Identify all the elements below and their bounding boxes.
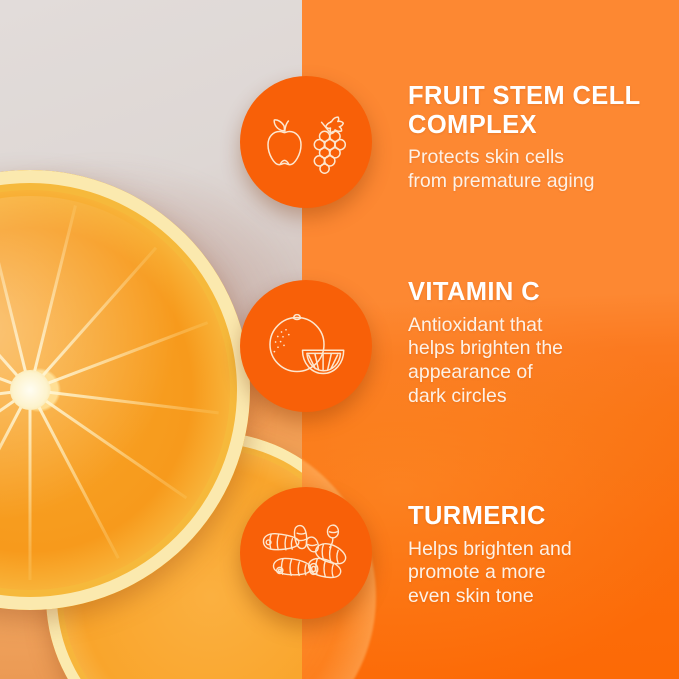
feature-text-vitamin-c: VITAMIN C Antioxidant that helps brighte… (408, 278, 563, 409)
feature-text-turmeric: TURMERIC Helps brighten and promote a mo… (408, 502, 572, 609)
feature-description: Antioxidant that helps brighten the appe… (408, 314, 563, 409)
feature-heading: VITAMIN C (408, 278, 563, 307)
feature-description: Protects skin cells from premature aging (408, 146, 641, 194)
feature-text-fruit-stem-cell-complex: FRUIT STEM CELL COMPLEX Protects skin ce… (408, 82, 641, 194)
feature-heading: TURMERIC (408, 502, 572, 531)
ingredient-infographic: FRUIT STEM CELL COMPLEX Protects skin ce… (0, 0, 679, 679)
feature-badge-turmeric[interactable] (240, 487, 372, 619)
feature-badge-fruit-stem-cell-complex[interactable] (240, 76, 372, 208)
orange-fruit-icon (258, 309, 354, 383)
feature-heading: FRUIT STEM CELL COMPLEX (408, 82, 641, 139)
feature-description: Helps brighten and promote a more even s… (408, 538, 572, 609)
turmeric-root-icon (256, 517, 356, 589)
apple-grapes-icon (258, 109, 354, 175)
feature-badge-vitamin-c[interactable] (240, 280, 372, 412)
